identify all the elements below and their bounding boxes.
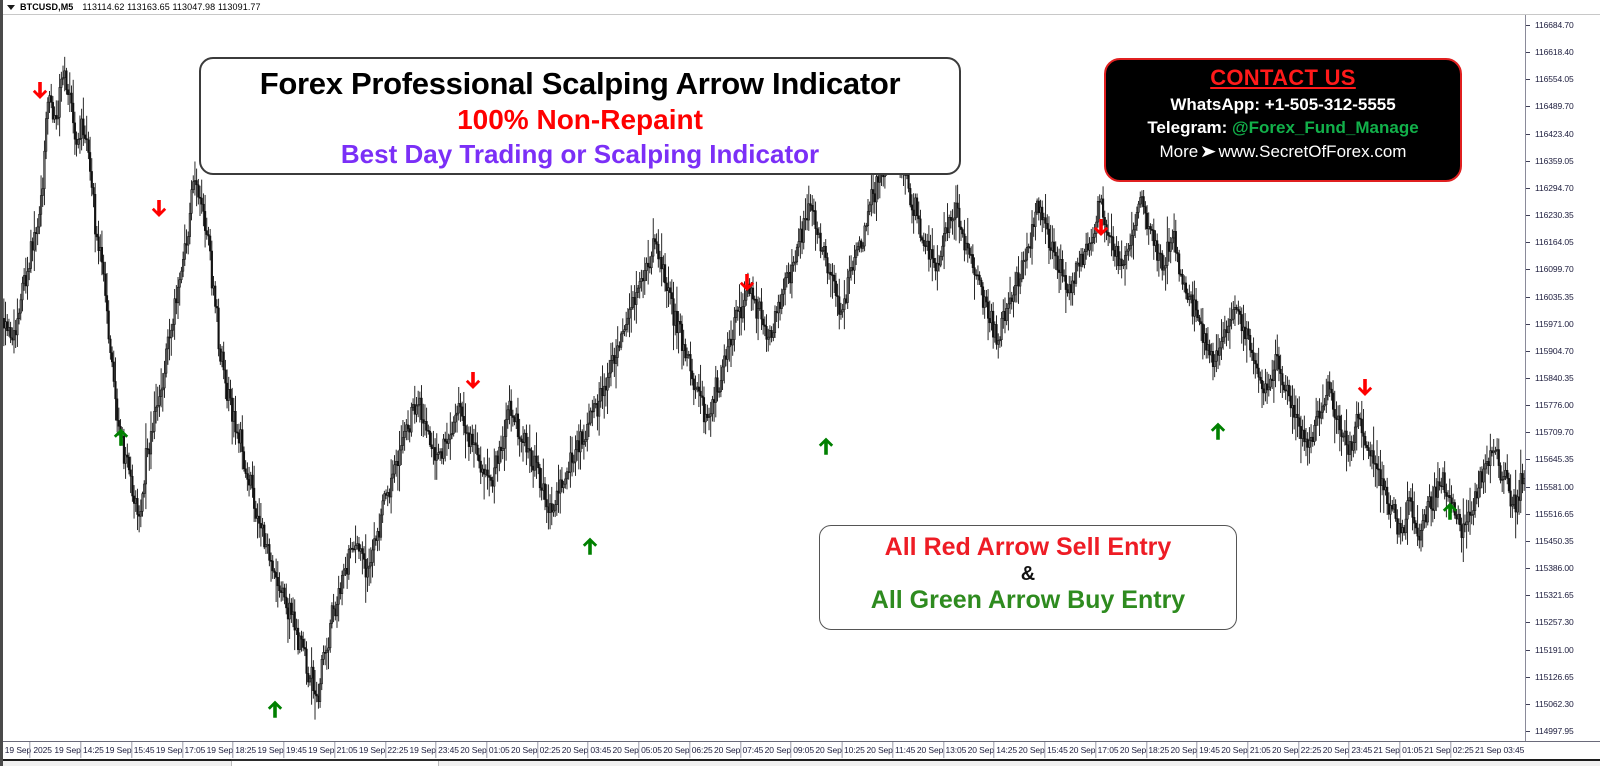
chart-window: BTCUSD,M5 113114.62 113163.65 113047.98 … (0, 0, 1600, 766)
time-tick-label: 19 Sep 23:45 (410, 745, 459, 755)
time-tick-label: 20 Sep 15:45 (1018, 745, 1067, 755)
time-tick-label: 21 Sep 02:25 (1424, 745, 1473, 755)
price-tick-label: 115840.35 (1526, 373, 1600, 383)
whatsapp-label: WhatsApp: (1170, 95, 1260, 114)
price-tick-label: 116164.05 (1526, 237, 1600, 247)
website-link[interactable]: www.SecretOfForex.com (1218, 142, 1406, 161)
price-tick-label: 115709.70 (1526, 427, 1600, 437)
price-tick-label: 116423.40 (1526, 129, 1600, 139)
price-tick-label: 116489.70 (1526, 101, 1600, 111)
buy-arrow-icon (267, 699, 283, 721)
whatsapp-row: WhatsApp: +1-505-312-5555 (1106, 93, 1460, 116)
sell-arrow-icon (1093, 219, 1109, 241)
price-tick-label: 115581.00 (1526, 482, 1600, 492)
time-tick-label: 20 Sep 06:25 (663, 745, 712, 755)
time-tick-label: 20 Sep 19:45 (1171, 745, 1220, 755)
time-tick-label: 20 Sep 05:05 (612, 745, 661, 755)
caret-down-icon[interactable] (7, 5, 15, 10)
time-tick-label: 20 Sep 03:45 (562, 745, 611, 755)
time-tick-label: 19 Sep 15:45 (105, 745, 154, 755)
price-tick-label: 115257.30 (1526, 617, 1600, 627)
price-tick-label: 116554.05 (1526, 74, 1600, 84)
time-tick-label: 19 Sep 2025 (5, 745, 52, 755)
title-line-1: Forex Professional Scalping Arrow Indica… (201, 65, 959, 103)
contact-callout-box: CONTACT US WhatsApp: +1-505-312-5555 Tel… (1104, 58, 1462, 182)
sell-arrow-icon (151, 200, 167, 222)
price-axis[interactable]: 116684.70116618.40116554.05116489.701164… (1525, 15, 1600, 741)
price-tick-label: 116359.05 (1526, 156, 1600, 166)
time-tick-label: 20 Sep 09:05 (765, 745, 814, 755)
time-tick-label: 20 Sep 18:25 (1120, 745, 1169, 755)
price-tick-label: 115062.30 (1526, 699, 1600, 709)
legend-sell-text: All Red Arrow Sell Entry (820, 532, 1236, 563)
time-tick-label: 19 Sep 19:45 (257, 745, 306, 755)
title-line-2: 100% Non-Repaint (201, 103, 959, 138)
time-axis[interactable]: 19 Sep 202519 Sep 14:2519 Sep 15:4519 Se… (3, 741, 1600, 759)
time-tick-label: 20 Sep 17:05 (1069, 745, 1118, 755)
sell-arrow-icon (1357, 379, 1373, 401)
telegram-row: Telegram: @Forex_Fund_Manage (1106, 116, 1460, 139)
time-tick-label: 20 Sep 23:45 (1323, 745, 1372, 755)
time-tick-label: 20 Sep 22:25 (1272, 745, 1321, 755)
price-tick-label: 115126.65 (1526, 672, 1600, 682)
time-tick-label: 19 Sep 14:25 (54, 745, 103, 755)
legend-ampersand: & (820, 563, 1236, 585)
price-tick-label: 115386.00 (1526, 563, 1600, 573)
price-tick-label: 115321.65 (1526, 590, 1600, 600)
buy-arrow-icon (818, 436, 834, 458)
buy-arrow-icon (1210, 421, 1226, 443)
price-tick-label: 116294.70 (1526, 183, 1600, 193)
signal-legend-box: All Red Arrow Sell Entry & All Green Arr… (819, 525, 1237, 630)
time-tick-label: 20 Sep 01:05 (460, 745, 509, 755)
title-callout-box: Forex Professional Scalping Arrow Indica… (199, 57, 961, 175)
whatsapp-number[interactable]: +1-505-312-5555 (1265, 95, 1396, 114)
time-tick-label: 21 Sep 01:05 (1373, 745, 1422, 755)
price-tick-label: 115645.35 (1526, 454, 1600, 464)
price-tick-label: 115904.70 (1526, 346, 1600, 356)
sell-arrow-icon (465, 372, 481, 394)
telegram-label: Telegram: (1147, 118, 1227, 137)
window-tab-bar[interactable] (3, 759, 1600, 766)
buy-arrow-icon (113, 427, 129, 449)
contact-title: CONTACT US (1106, 64, 1460, 93)
title-line-3: Best Day Trading or Scalping Indicator (201, 138, 959, 171)
price-tick-label: 115191.00 (1526, 645, 1600, 655)
buy-arrow-icon (582, 536, 598, 558)
ohlc-values: 113114.62 113163.65 113047.98 113091.77 (82, 2, 260, 12)
telegram-handle[interactable]: @Forex_Fund_Manage (1232, 118, 1419, 137)
price-tick-label: 116035.35 (1526, 292, 1600, 302)
right-arrow-icon: ➤ (1201, 141, 1216, 162)
time-tick-label: 20 Sep 10:25 (815, 745, 864, 755)
price-tick-label: 115971.00 (1526, 319, 1600, 329)
price-tick-label: 116230.35 (1526, 210, 1600, 220)
symbol-bar: BTCUSD,M5 113114.62 113163.65 113047.98 … (3, 0, 1600, 15)
price-tick-label: 116099.70 (1526, 264, 1600, 274)
time-tick-label: 20 Sep 02:25 (511, 745, 560, 755)
time-tick-label: 20 Sep 14:25 (968, 745, 1017, 755)
price-tick-label: 115450.35 (1526, 536, 1600, 546)
time-tick-label: 20 Sep 21:05 (1221, 745, 1270, 755)
tab-strip-right[interactable] (440, 759, 1600, 761)
tab-strip-left[interactable] (3, 759, 231, 761)
sell-arrow-icon (32, 82, 48, 104)
time-tick-label: 19 Sep 18:25 (207, 745, 256, 755)
time-tick-label: 20 Sep 07:45 (714, 745, 763, 755)
buy-arrow-icon (1442, 501, 1458, 523)
time-tick-label: 19 Sep 21:05 (308, 745, 357, 755)
time-tick-label: 20 Sep 11:45 (866, 745, 915, 755)
time-tick-label: 19 Sep 17:05 (156, 745, 205, 755)
price-tick-label: 116618.40 (1526, 47, 1600, 57)
price-tick-label: 116684.70 (1526, 20, 1600, 30)
price-tick-label: 114997.95 (1526, 726, 1600, 736)
price-tick-label: 115516.65 (1526, 509, 1600, 519)
time-tick-label: 21 Sep 03:45 (1475, 745, 1524, 755)
website-row: More➤www.SecretOfForex.com (1106, 140, 1460, 164)
price-tick-label: 115776.00 (1526, 400, 1600, 410)
time-tick-label: 20 Sep 13:05 (917, 745, 966, 755)
tab-strip-active[interactable] (231, 761, 439, 766)
sell-arrow-icon (739, 274, 755, 296)
time-tick-label: 19 Sep 22:25 (359, 745, 408, 755)
legend-buy-text: All Green Arrow Buy Entry (820, 585, 1236, 616)
more-label: More (1160, 142, 1199, 161)
symbol-label: BTCUSD,M5 (20, 2, 73, 12)
